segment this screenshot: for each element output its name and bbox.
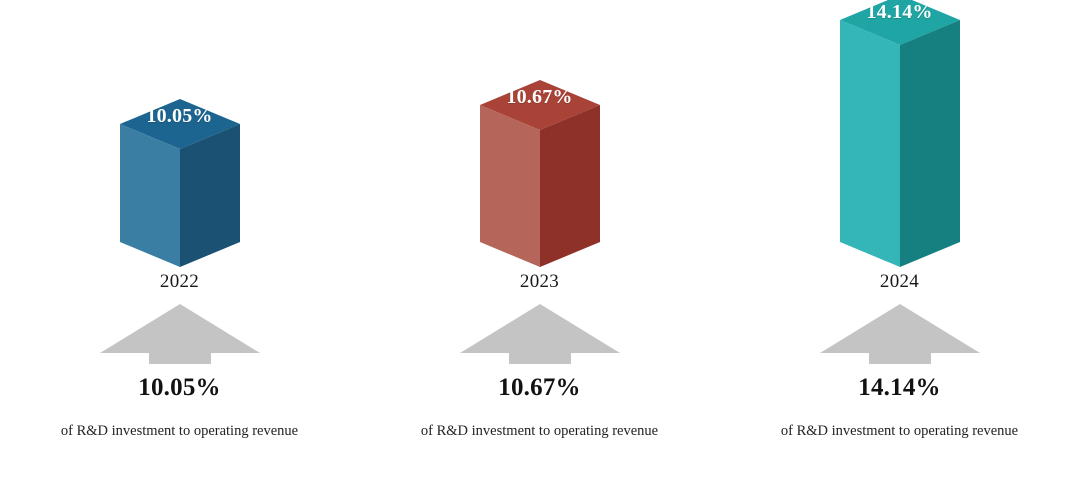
up-arrow-2022	[0, 302, 359, 366]
bar-right-face	[180, 124, 240, 267]
bar-3d-2024-svg	[837, 0, 963, 270]
stat-value-2023: 10.67%	[360, 374, 719, 402]
bar-3d-2024: 14.14%	[720, 0, 1079, 270]
year-label-2023: 2023	[360, 271, 719, 293]
stat-value-2022: 10.05%	[0, 374, 359, 402]
up-arrow-2023	[360, 302, 719, 366]
stat-caption-2023: of R&D investment to operating revenue	[414, 422, 666, 441]
bar-value-label-2022: 10.05%	[146, 105, 212, 128]
year-label-2022: 2022	[0, 271, 359, 293]
rnd-investment-chart: 10.05% 2022 10.05% of R&D investment to …	[0, 0, 1079, 490]
up-arrow-icon	[818, 302, 982, 366]
up-arrow-shape	[820, 304, 980, 364]
year-label-2024: 2024	[720, 271, 1079, 293]
bar-left-face	[840, 20, 900, 267]
up-arrow-shape	[100, 304, 260, 364]
chart-group-2022: 10.05% 2022 10.05% of R&D investment to …	[0, 0, 359, 490]
bar-left-face	[480, 105, 540, 267]
bar-right-face	[540, 105, 600, 267]
bar-value-label-2024: 14.14%	[866, 1, 932, 24]
bar-left-face	[120, 124, 180, 267]
bar-value-label-2023: 10.67%	[506, 86, 572, 109]
chart-group-2023: 10.67% 2023 10.67% of R&D investment to …	[360, 0, 719, 490]
up-arrow-icon	[98, 302, 262, 366]
up-arrow-2024	[720, 302, 1079, 366]
chart-group-2024: 14.14% 2024 14.14% of R&D investment to …	[720, 0, 1079, 490]
stat-value-2024: 14.14%	[720, 374, 1079, 402]
bar-3d-2022: 10.05%	[0, 0, 359, 270]
bar-3d-2023: 10.67%	[360, 0, 719, 270]
stat-caption-2022: of R&D investment to operating revenue	[54, 422, 306, 441]
up-arrow-shape	[460, 304, 620, 364]
up-arrow-icon	[458, 302, 622, 366]
bar-right-face	[900, 20, 960, 267]
stat-caption-2024: of R&D investment to operating revenue	[774, 422, 1026, 441]
